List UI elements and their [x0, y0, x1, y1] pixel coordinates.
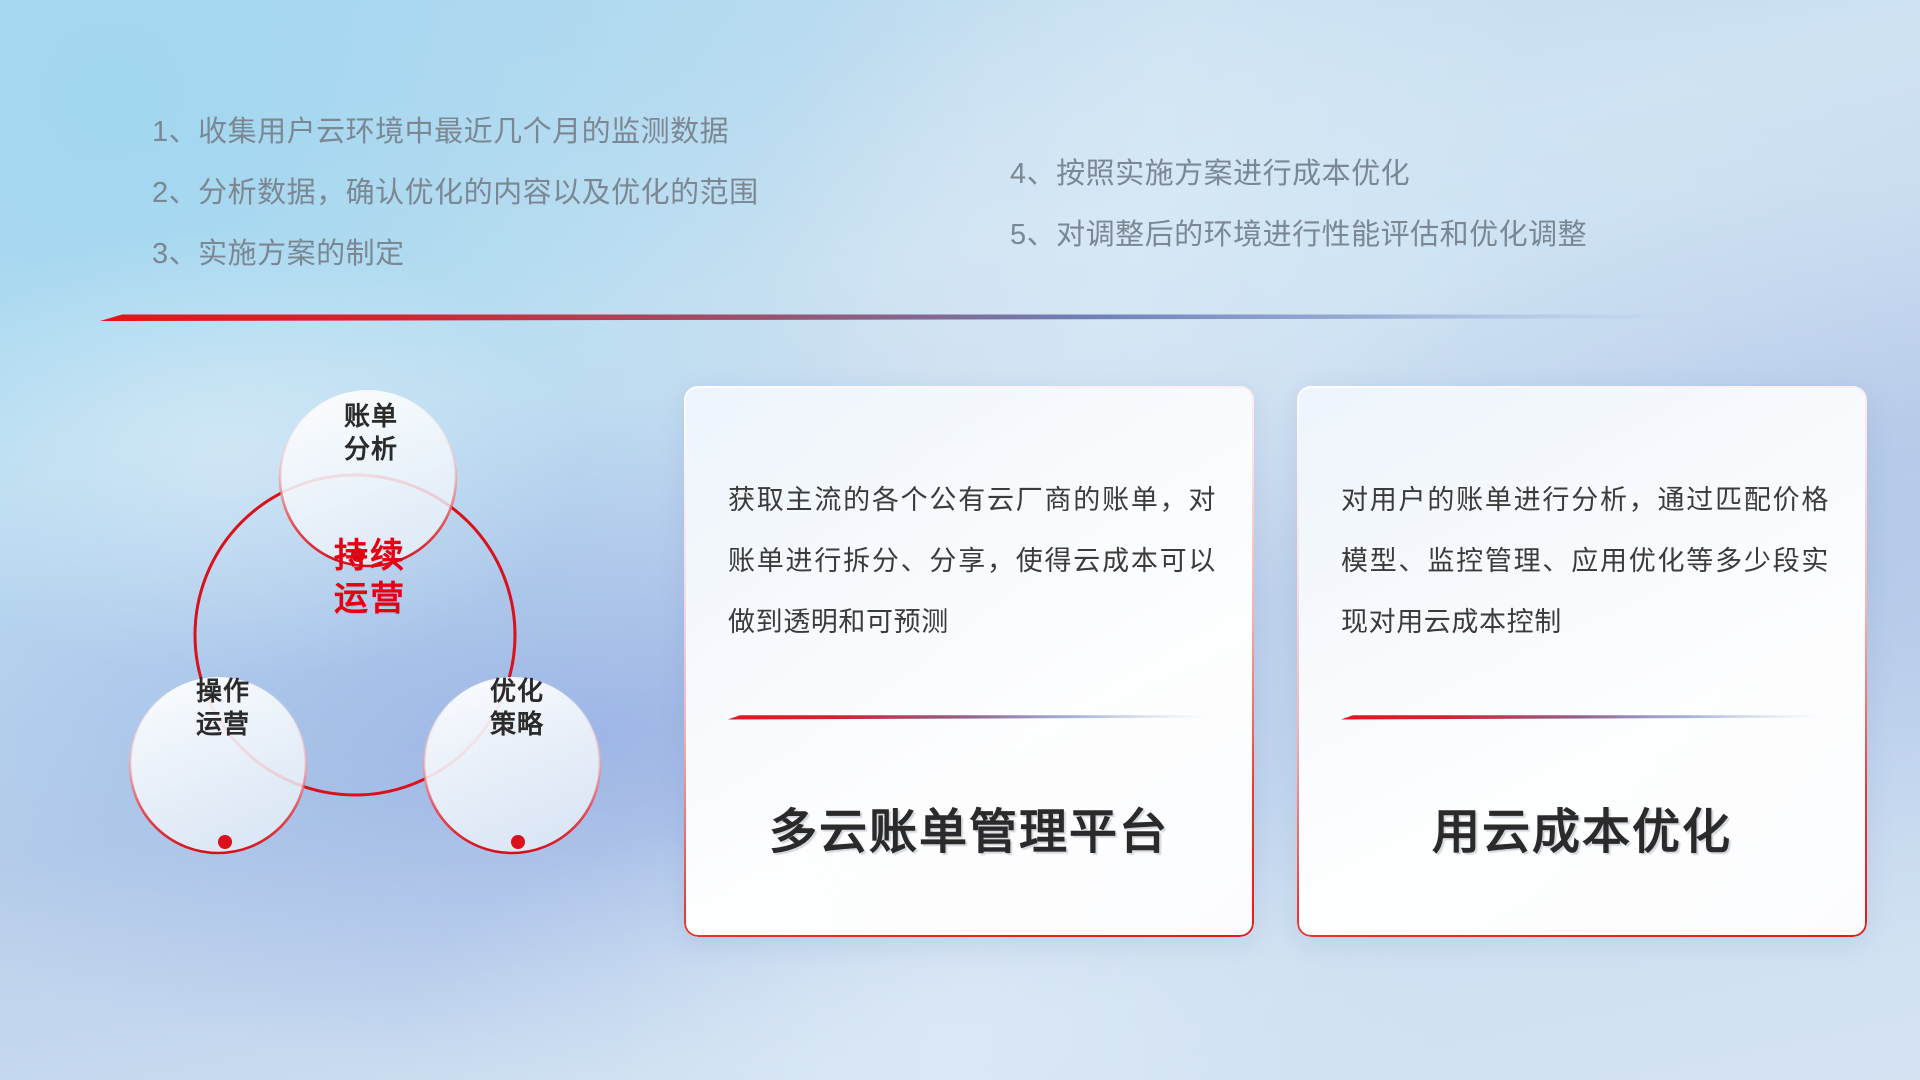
slide-root: 1、收集用户云环境中最近几个月的监测数据 2、分析数据，确认优化的内容以及优化的… — [0, 0, 1920, 1080]
continuous-operation-diagram: 账单 分析 操作 运营 优化 策略 持续 运营 — [90, 345, 650, 945]
diagram-center-label: 持续 运营 — [265, 535, 475, 620]
step-item-5: 5、对调整后的环境进行性能评估和优化调整 — [1010, 221, 1587, 250]
step-item-3: 3、实施方案的制定 — [152, 240, 759, 269]
card-body-text: 对用户的账单进行分析，通过匹配价格模型、监控管理、应用优化等多少段实现对用云成本… — [1341, 470, 1829, 652]
card-multi-cloud-billing-platform[interactable]: 获取主流的各个公有云厂商的账单，对账单进行拆分、分享，使得云成本可以做到透明和可… — [684, 386, 1254, 937]
steps-list-left: 1、收集用户云环境中最近几个月的监测数据 2、分析数据，确认优化的内容以及优化的… — [152, 118, 759, 269]
diagram-node-label-optimization-strategy: 优化 策略 — [432, 675, 602, 740]
card-title: 用云成本优化 — [1297, 792, 1867, 862]
steps-list-right: 4、按照实施方案进行成本优化 5、对调整后的环境进行性能评估和优化调整 — [1010, 160, 1587, 250]
card-cloud-cost-optimization[interactable]: 对用户的账单进行分析，通过匹配价格模型、监控管理、应用优化等多少段实现对用云成本… — [1297, 386, 1867, 937]
diagram-node-label-operation-management: 操作 运营 — [138, 675, 308, 740]
card-accent-rule — [728, 714, 1210, 720]
step-item-4: 4、按照实施方案进行成本优化 — [1010, 160, 1587, 189]
section-divider — [100, 312, 1690, 322]
card-body-text: 获取主流的各个公有云厂商的账单，对账单进行拆分、分享，使得云成本可以做到透明和可… — [728, 470, 1216, 652]
step-item-1: 1、收集用户云环境中最近几个月的监测数据 — [152, 118, 759, 147]
card-accent-rule — [1341, 714, 1823, 720]
card-title: 多云账单管理平台 — [684, 792, 1254, 862]
step-item-2: 2、分析数据，确认优化的内容以及优化的范围 — [152, 179, 759, 208]
diagram-node-label-billing-analysis: 账单 分析 — [286, 400, 456, 465]
